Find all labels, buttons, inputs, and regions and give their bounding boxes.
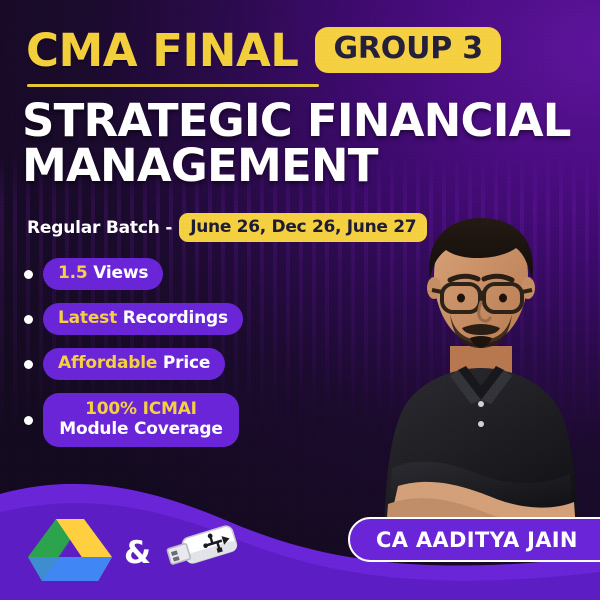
bullet-dot-icon [24, 360, 33, 369]
feature-pill: Latest Recordings [43, 303, 243, 335]
list-item: 100% ICMAI Module Coverage [24, 393, 284, 447]
course-title: CMA FINAL [26, 28, 298, 73]
feature-rest: Recordings [123, 308, 228, 328]
feature-list: 1.5 Views Latest Recordings Affordable P… [24, 258, 284, 460]
ampersand-separator: & [124, 535, 151, 571]
google-drive-icon [28, 513, 112, 587]
list-item: Affordable Price [24, 348, 284, 380]
feature-pill: Affordable Price [43, 348, 225, 380]
headline-row: CMA FINAL GROUP 3 [26, 27, 501, 73]
feature-highlight: Affordable [58, 353, 157, 373]
bullet-dot-icon [24, 416, 33, 425]
feature-highlight: 1.5 [58, 263, 88, 283]
promo-poster: CMA FINAL GROUP 3 STRATEGIC FINANCIAL MA… [0, 0, 600, 600]
gold-underline [27, 84, 319, 87]
batch-dates-badge: June 26, Dec 26, June 27 [179, 213, 427, 242]
usb-pendrive-icon [163, 520, 241, 582]
subject-line-2: MANAGEMENT [22, 144, 600, 189]
feature-pill: 100% ICMAI Module Coverage [43, 393, 239, 447]
feature-rest: Price [163, 353, 210, 373]
subject-title: STRATEGIC FINANCIAL MANAGEMENT [22, 99, 600, 188]
batch-row: Regular Batch - June 26, Dec 26, June 27 [27, 213, 427, 242]
bullet-dot-icon [24, 315, 33, 324]
faculty-name: CA AADITYA JAIN [376, 528, 578, 552]
list-item: Latest Recordings [24, 303, 284, 335]
feature-highlight: 100% ICMAI [85, 399, 197, 419]
feature-rest: Views [93, 263, 148, 283]
batch-label: Regular Batch - [27, 218, 172, 238]
bullet-dot-icon [24, 270, 33, 279]
feature-pill: 1.5 Views [43, 258, 163, 290]
group-badge: GROUP 3 [315, 27, 501, 73]
feature-rest: Module Coverage [59, 419, 222, 439]
faculty-name-bar: CA AADITYA JAIN [348, 517, 600, 562]
feature-highlight: Latest [58, 308, 117, 328]
subject-line-1: STRATEGIC FINANCIAL [22, 99, 600, 144]
list-item: 1.5 Views [24, 258, 284, 290]
